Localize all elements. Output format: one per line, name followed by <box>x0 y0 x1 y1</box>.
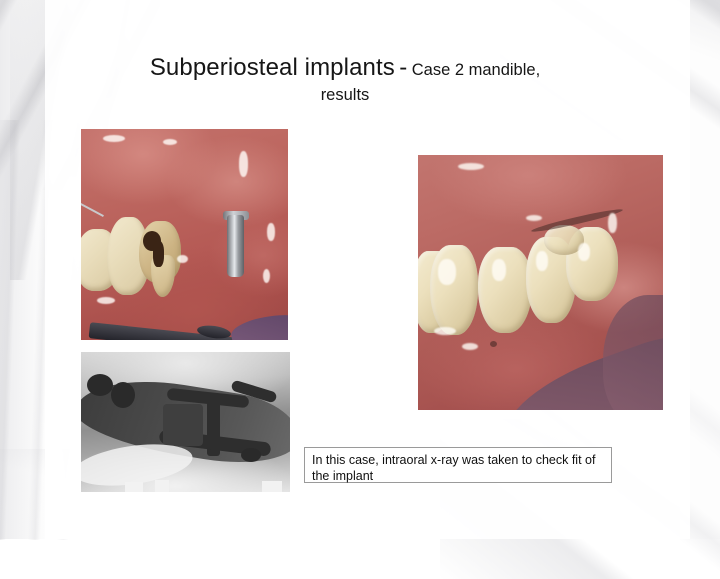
crown-2 <box>430 245 478 335</box>
tissue-highlight-5 <box>263 269 270 283</box>
crown-highlight-2 <box>492 259 506 281</box>
photo-intraoral-implant <box>81 129 288 340</box>
radiograph-marker-3 <box>262 481 282 492</box>
tissue-highlight-6 <box>177 255 188 263</box>
tissue-highlight-2 <box>526 215 542 221</box>
caries-lesion-secondary <box>153 241 164 267</box>
tissue-highlight-3 <box>239 151 248 177</box>
caption-box: In this case, intraoral x-ray was taken … <box>304 447 612 483</box>
photo-intraoral-crowns <box>418 155 663 410</box>
tissue-highlight-2 <box>163 139 177 145</box>
tissue-highlight-1 <box>458 163 484 170</box>
slide-title: Subperiosteal implants - Case 2 mandible… <box>45 56 645 104</box>
tissue-highlight-1 <box>103 135 125 142</box>
radiograph-radiolucency-2 <box>111 382 135 408</box>
tissue-highlight-5 <box>462 343 478 350</box>
caption-text: In this case, intraoral x-ray was taken … <box>312 453 595 483</box>
tissue-highlight-4 <box>267 223 275 241</box>
tissue-highlight-4 <box>434 327 456 335</box>
crown-3 <box>478 247 532 333</box>
slide-title-dash: - <box>399 54 407 81</box>
crown-highlight-4 <box>578 243 590 261</box>
radiograph-implant-framework-plate <box>163 404 203 446</box>
radiograph-radiolucency-1 <box>87 374 113 396</box>
radiograph-marker-1 <box>125 482 143 492</box>
slide-title-line-2: results <box>45 87 645 104</box>
mucosa-pigment-spot <box>490 341 497 347</box>
crown-highlight-1 <box>438 259 456 285</box>
slide-title-subject: Case 2 mandible, <box>412 61 540 79</box>
slide-title-line-1: Subperiosteal implants - Case 2 mandible… <box>45 56 645 80</box>
photo-xray <box>81 352 290 492</box>
slide-title-main: Subperiosteal implants <box>150 54 395 81</box>
crown-highlight-3 <box>536 251 548 271</box>
implant-abutment-post <box>227 215 244 277</box>
tissue-highlight-7 <box>97 297 115 304</box>
radiograph-framework-node <box>241 448 261 462</box>
radiograph-marker-2 <box>155 480 169 492</box>
tissue-highlight-3 <box>608 213 617 233</box>
